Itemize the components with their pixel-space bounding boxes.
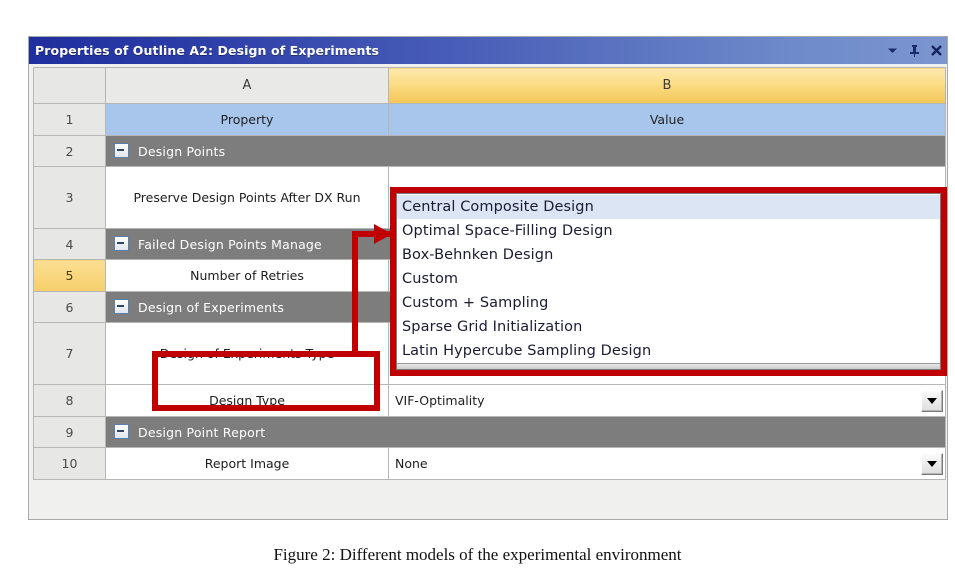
property-label-number-of-retries: Number of Retries [106,260,389,292]
dropdown-arrow-icon[interactable] [921,390,943,412]
property-label-preserve-design-points: Preserve Design Points After DX Run [106,167,389,229]
table-row: 10 Report Image None [34,448,946,480]
value-column-title: Value [389,104,946,136]
annotation-arrow-vertical [352,231,358,356]
column-header-b[interactable]: B [389,68,946,104]
column-header-a[interactable]: A [106,68,389,104]
group-row-design-point-report[interactable]: Design Point Report [106,417,946,448]
annotation-box-property-label [152,351,380,411]
value-text: None [395,456,428,471]
group-label: Design Points [138,144,225,159]
property-label-report-image: Report Image [106,448,389,480]
dropdown-arrow-icon[interactable] [921,453,943,475]
group-row-design-points[interactable]: Design Points [106,136,946,167]
value-text: VIF-Optimality [395,393,485,408]
row-number[interactable]: 2 [34,136,106,167]
row-number[interactable]: 1 [34,104,106,136]
row-number[interactable]: 6 [34,292,106,323]
row-number[interactable]: 3 [34,167,106,229]
property-column-title: Property [106,104,389,136]
figure-caption: Figure 2: Different models of the experi… [0,545,955,565]
table-row: 2 Design Points [34,136,946,167]
group-label: Design Point Report [138,425,265,440]
collapse-minus-icon[interactable] [114,143,129,158]
pin-icon[interactable] [903,39,925,63]
row-number[interactable]: 10 [34,448,106,480]
value-cell-report-image[interactable]: None [389,448,946,480]
row-number[interactable]: 9 [34,417,106,448]
panel-title-bar: Properties of Outline A2: Design of Expe… [29,37,947,64]
annotation-box-option-list [390,187,947,376]
collapse-minus-icon[interactable] [114,236,129,251]
close-icon[interactable] [925,39,947,63]
table-row: 9 Design Point Report [34,417,946,448]
table-row: 1 Property Value [34,104,946,136]
collapse-minus-icon[interactable] [114,424,129,439]
annotation-arrow-head [374,224,392,244]
row-number[interactable]: 8 [34,385,106,417]
collapse-minus-icon[interactable] [114,299,129,314]
row-number-selected[interactable]: 5 [34,260,106,292]
row-number[interactable]: 4 [34,229,106,260]
column-header-corner[interactable] [34,68,106,104]
panel-title: Properties of Outline A2: Design of Expe… [29,43,379,58]
column-header-row: A B [34,68,946,104]
row-number[interactable]: 7 [34,323,106,385]
group-label: Failed Design Points Manage [138,237,322,252]
chevron-down-icon[interactable] [881,39,903,63]
value-cell-design-type[interactable]: VIF-Optimality [389,385,946,417]
group-label: Design of Experiments [138,300,284,315]
